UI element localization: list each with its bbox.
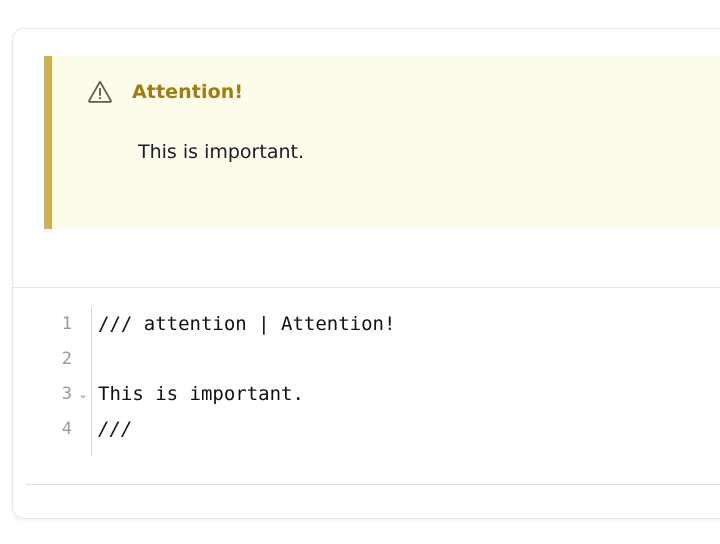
code-editor[interactable]: 1/// attention | Attention!23⌄This is im… (26, 307, 720, 456)
line-number: 2 (26, 342, 78, 377)
admonition-body-text: This is important. (138, 140, 304, 166)
line-number: 3⌄ (26, 377, 78, 412)
admonition-title-row: Attention! (86, 78, 243, 106)
source-code-pane[interactable]: 1/// attention | Attention!23⌄This is im… (13, 289, 720, 519)
admonition-attention: Attention! This is important. (44, 56, 720, 229)
code-line-text[interactable]: This is important. (78, 377, 720, 412)
chevron-down-icon[interactable]: ⌄ (77, 377, 89, 412)
preview-card: Attention! This is important. 1/// atten… (12, 28, 720, 519)
admonition-title: Attention! (132, 83, 243, 102)
page-root: Attention! This is important. 1/// atten… (0, 0, 720, 544)
line-number: 4 (26, 412, 78, 447)
code-pane-bottom-divider (26, 484, 720, 485)
code-line-list: 1/// attention | Attention!23⌄This is im… (26, 307, 720, 447)
code-line[interactable]: 4/// (26, 412, 720, 447)
code-line-text[interactable] (78, 342, 720, 377)
code-line[interactable]: 2 (26, 342, 720, 377)
code-line[interactable]: 3⌄This is important. (26, 377, 720, 412)
rendered-preview-pane: Attention! This is important. (13, 29, 720, 288)
code-line-text[interactable]: /// (78, 412, 720, 447)
warning-triangle-icon (86, 78, 114, 106)
line-number: 1 (26, 307, 78, 342)
code-line[interactable]: 1/// attention | Attention! (26, 307, 720, 342)
code-line-text[interactable]: /// attention | Attention! (78, 307, 720, 342)
